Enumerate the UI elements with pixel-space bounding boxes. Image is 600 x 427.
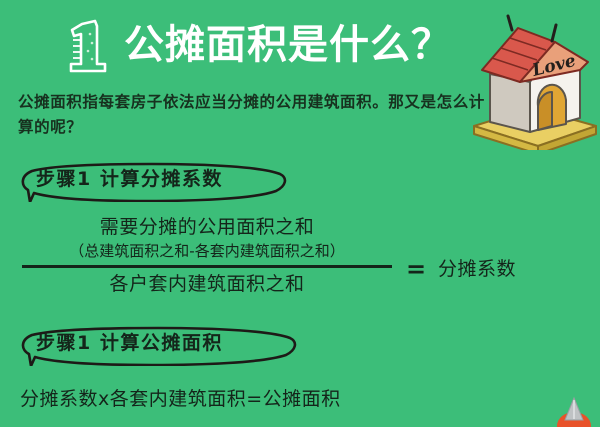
step-banner-1-label: 步骤1 计算分摊系数 [36,162,223,196]
infographic-poster: 公摊面积是什么？ Love 公摊面积 [0,0,600,427]
page-title: 公摊面积是什么？ [124,16,452,74]
fraction: 需要分摊的公用面积之和 （总建筑面积之和-各套内建筑面积之和） 各户套内建筑面积… [22,214,392,300]
equals-sign: = [406,256,426,282]
step-banner-2-label: 步骤1 计算公摊面积 [36,326,223,360]
formula-result-label: 分摊系数 [438,256,516,282]
intro-paragraph: 公摊面积指每套房子依法应当分摊的公用建筑面积。那又是怎么计算的呢？ [18,90,488,140]
fraction-numerator-main: 需要分摊的公用面积之和 [22,214,392,240]
title-row: 公摊面积是什么？ [0,14,470,80]
step-banner-1: 步骤1 计算分摊系数 [14,162,294,202]
coefficient-formula: 需要分摊的公用面积之和 （总建筑面积之和-各套内建筑面积之和） 各户套内建筑面积… [18,214,578,306]
step-banner-2: 步骤1 计算公摊面积 [14,326,304,366]
fraction-numerator-sub: （总建筑面积之和-各套内建筑面积之和） [22,240,392,262]
fraction-denominator: 各户套内建筑面积之和 [22,268,392,300]
public-area-formula: 分摊系数x各套内建筑面积=公摊面积 [20,385,341,413]
orange-character-with-cone-hat [552,396,596,427]
building-number-one-icon [62,18,120,76]
